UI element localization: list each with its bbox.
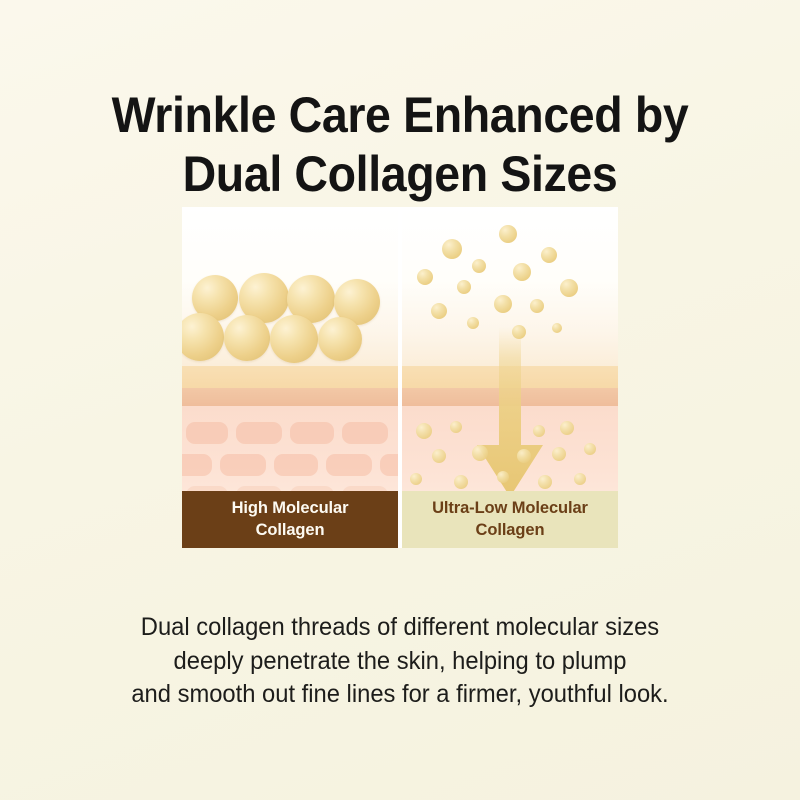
dermis-cell: [380, 454, 398, 476]
collagen-dot-small: [417, 269, 433, 285]
collagen-dot-small: [560, 279, 578, 297]
collagen-dot-small-deep: [450, 421, 462, 433]
dermis-cell: [290, 422, 334, 444]
panel-separator: [398, 207, 402, 548]
collagen-comparison-illustration: High Molecular Collagen Ultra-Low Molecu…: [182, 207, 618, 548]
skin-layer-basal: [402, 388, 618, 406]
dermis-cell: [342, 422, 388, 444]
collagen-dot-small: [552, 323, 562, 333]
collagen-dot-small-deep: [454, 475, 468, 489]
collagen-dot-small-deep: [552, 447, 566, 461]
collagen-dot-small-deep: [432, 449, 446, 463]
collagen-dot-small: [467, 317, 479, 329]
collagen-dot-small: [442, 239, 462, 259]
collagen-dot-small: [530, 299, 544, 313]
collagen-dot-small: [431, 303, 447, 319]
collagen-dot-small-deep: [574, 473, 586, 485]
collagen-dot-small-deep: [584, 443, 596, 455]
collagen-dot-small-deep: [517, 449, 531, 463]
dermis-cell: [326, 454, 372, 476]
collagen-dot-small: [499, 225, 517, 243]
collagen-dot-small-deep: [533, 425, 545, 437]
collagen-sphere-large: [318, 317, 362, 361]
dermis-cell: [236, 422, 282, 444]
collagen-dot-small-deep: [538, 475, 552, 489]
label-right-line-1: Ultra-Low Molecular: [426, 498, 594, 519]
dermis-cell: [274, 454, 318, 476]
skin-layer-epidermis: [402, 366, 618, 388]
dermis-cell: [182, 454, 212, 476]
dermis-cell: [220, 454, 266, 476]
skin-layer-epidermis: [182, 366, 398, 388]
collagen-dot-small-deep: [410, 473, 422, 485]
collagen-dot-small: [541, 247, 557, 263]
label-left-line-2: Collagen: [226, 520, 355, 541]
collagen-dot-small-deep: [472, 445, 488, 461]
dermis-cell: [186, 422, 228, 444]
collagen-dot-small: [457, 280, 471, 294]
body-description-line-1: Dual collagen threads of different molec…: [20, 611, 780, 645]
collagen-sphere-large: [270, 315, 318, 363]
collagen-dot-small: [512, 325, 526, 339]
label-left-line-1: High Molecular: [226, 498, 355, 519]
collagen-dot-small-deep: [497, 471, 509, 483]
body-description-line-3: and smooth out fine lines for a firmer, …: [20, 678, 780, 712]
collagen-sphere-large: [224, 315, 270, 361]
page-title: Wrinkle Care Enhanced by Dual Collagen S…: [28, 86, 772, 204]
label-ultra-low-molecular-collagen: Ultra-Low Molecular Collagen: [402, 491, 618, 548]
collagen-dot-small-deep: [560, 421, 574, 435]
skin-layer-basal: [182, 388, 398, 406]
collagen-dot-small: [513, 263, 531, 281]
collagen-dot-small: [472, 259, 486, 273]
label-right-line-2: Collagen: [426, 520, 594, 541]
body-description-line-2: deeply penetrate the skin, helping to pl…: [20, 645, 780, 679]
collagen-dot-small: [494, 295, 512, 313]
page-title-line-1: Wrinkle Care Enhanced by: [28, 86, 772, 145]
page-root: Wrinkle Care Enhanced by Dual Collagen S…: [0, 0, 800, 800]
collagen-dot-small-deep: [416, 423, 432, 439]
label-high-molecular-collagen: High Molecular Collagen: [182, 491, 398, 548]
body-description: Dual collagen threads of different molec…: [20, 611, 780, 712]
page-title-line-2: Dual Collagen Sizes: [28, 145, 772, 204]
